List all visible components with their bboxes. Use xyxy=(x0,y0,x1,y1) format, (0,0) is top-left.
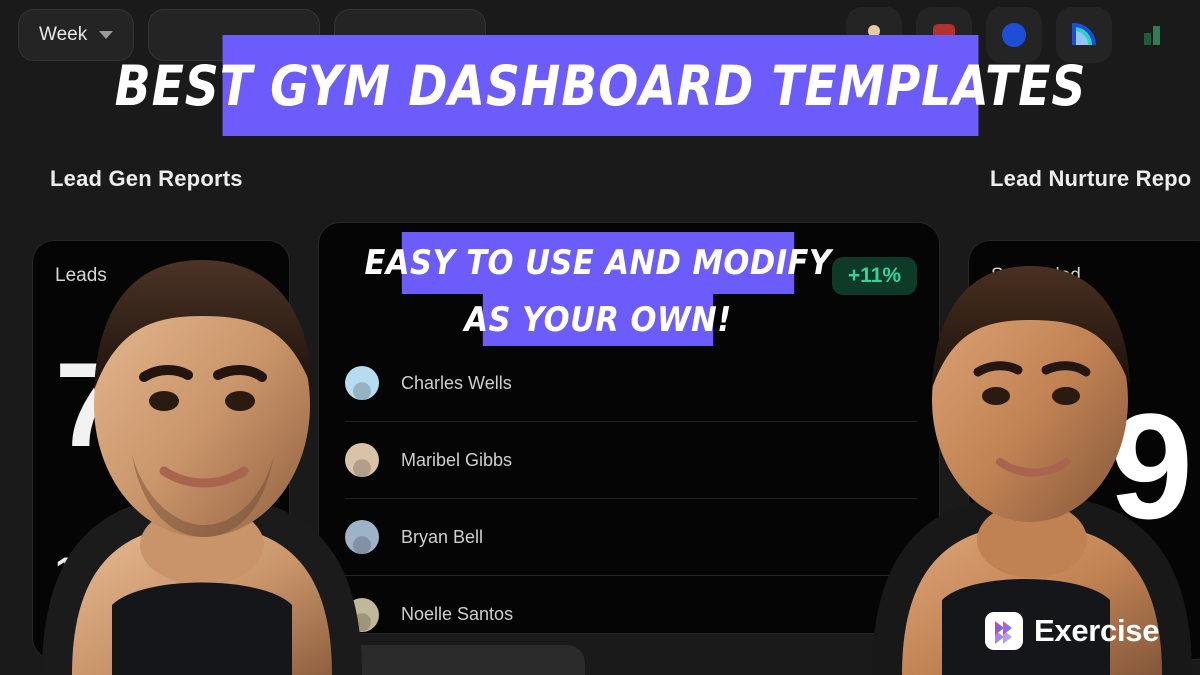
blue-circle-icon xyxy=(999,20,1029,50)
period-selector-label: Week xyxy=(39,24,87,46)
avatar xyxy=(345,598,379,632)
avatar xyxy=(345,366,379,400)
bottom-panel xyxy=(335,645,585,675)
list-item-label: Bryan Bell xyxy=(401,527,483,548)
avatar xyxy=(345,443,379,477)
list-item-label: Maribel Gibbs xyxy=(401,450,512,471)
card-leads-value: 7 xyxy=(55,345,120,465)
brand-logo: Exercise xyxy=(985,612,1159,650)
card-scheduled-label: Scheduled xyxy=(991,265,1081,287)
status-badge-growth: +11% xyxy=(832,257,917,295)
banner-subheadline-line1: EASY TO USE AND MODIFY xyxy=(402,232,794,294)
list-item-label: Noelle Santos xyxy=(401,604,513,625)
section-heading-lead-gen: Lead Gen Reports xyxy=(50,166,243,192)
bar-chart-icon xyxy=(1139,20,1169,50)
card-leads-secondary: 1 xyxy=(55,550,77,595)
banner-subheadline: EASY TO USE AND MODIFY AS YOUR OWN! xyxy=(380,232,816,346)
list-item[interactable]: Noelle Santos xyxy=(345,576,917,634)
card-leads[interactable]: Leads 7 1 xyxy=(32,240,290,660)
list-item[interactable]: Maribel Gibbs xyxy=(345,422,917,499)
stacked-chevron-icon xyxy=(985,612,1023,650)
dashboard-app: Week xyxy=(0,0,1200,675)
list-item[interactable]: Bryan Bell xyxy=(345,499,917,576)
card-leads-label: Leads xyxy=(55,265,107,287)
list-item-label: Charles Wells xyxy=(401,373,512,394)
app-icon-chart[interactable] xyxy=(1126,7,1182,63)
banner-headline: BEST GYM DASHBOARD TEMPLATES xyxy=(223,35,979,136)
chevron-down-icon xyxy=(99,31,113,39)
avatar xyxy=(345,520,379,554)
people-list: Charles Wells Maribel Gibbs Bryan Bell N… xyxy=(345,345,917,634)
list-item[interactable]: Charles Wells xyxy=(345,345,917,422)
brand-logo-text: Exercise xyxy=(1034,613,1159,649)
banner-subheadline-line2: AS YOUR OWN! xyxy=(483,294,713,346)
card-scheduled-value: 9 xyxy=(1110,391,1191,541)
card-scheduled[interactable]: Scheduled 9 xyxy=(968,240,1200,660)
radar-arc-icon xyxy=(1068,19,1100,51)
section-heading-lead-nurture: Lead Nurture Repo xyxy=(990,166,1191,192)
